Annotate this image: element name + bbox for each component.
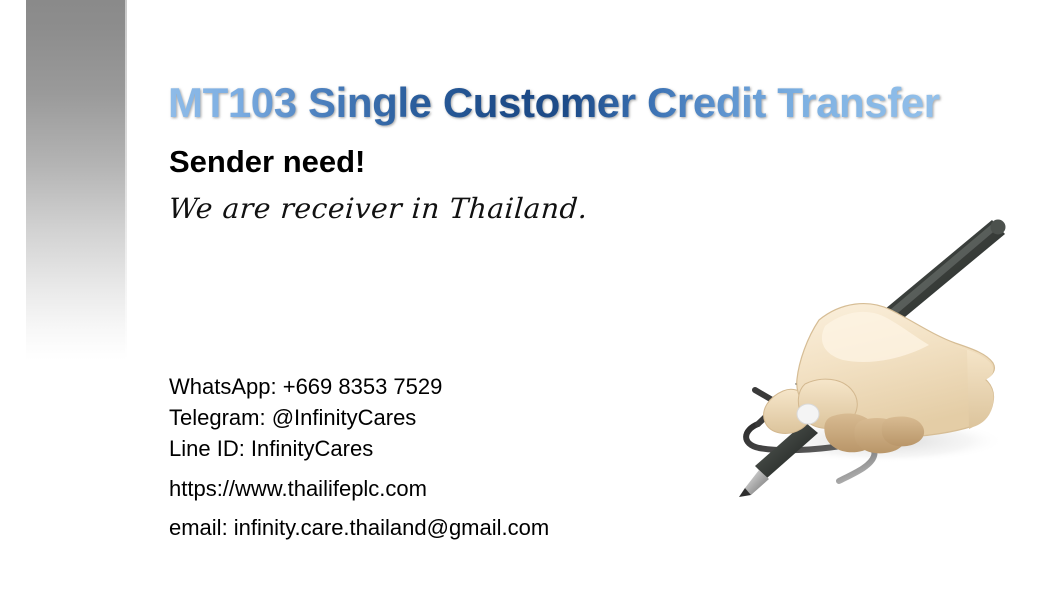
contact-line-website[interactable]: https://www.thailifeplc.com	[169, 473, 549, 504]
subheadline-text: We are receiver in Thailand.	[168, 192, 589, 225]
little-finger	[882, 416, 924, 446]
slide-canvas: MT103 Single Customer Credit Transfer Se…	[0, 0, 1063, 600]
page-title: MT103 Single Customer Credit Transfer	[168, 79, 940, 127]
pen-collar-ring	[797, 404, 819, 424]
contact-line-whatsapp: WhatsApp: +669 8353 7529	[169, 371, 549, 402]
pen-cap-end	[991, 220, 1006, 235]
contact-line-telegram: Telegram: @InfinityCares	[169, 402, 549, 433]
contact-block: WhatsApp: +669 8353 7529 Telegram: @Infi…	[169, 371, 549, 543]
contact-line-lineid: Line ID: InfinityCares	[169, 433, 549, 464]
decorative-gradient-bar-edge	[125, 0, 127, 360]
contact-line-email[interactable]: email: infinity.care.thailand@gmail.com	[169, 512, 549, 543]
decorative-gradient-bar	[26, 0, 125, 360]
hand-writing-with-pen-icon	[655, 198, 1055, 528]
headline-text: Sender need!	[169, 144, 365, 180]
